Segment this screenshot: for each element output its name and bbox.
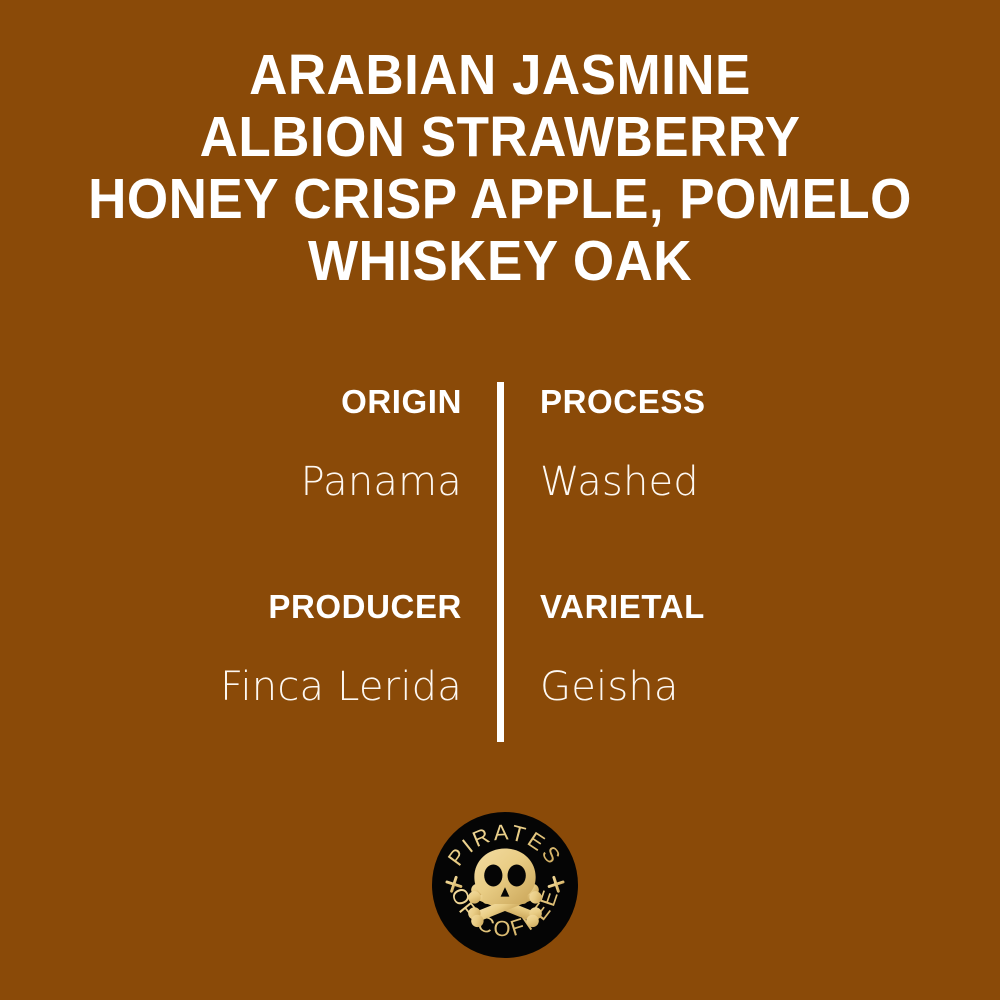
attribute-label: ORIGIN (0, 382, 462, 422)
attribute-label: PROCESS (540, 382, 1000, 422)
attribute-row: PRODUCER Finca Lerida VARIETAL Geisha (0, 587, 1000, 767)
tasting-note-line: WHISKEY OAK (35, 230, 965, 292)
attribute-value: Geisha (540, 665, 1000, 709)
attribute-producer: PRODUCER Finca Lerida (0, 587, 462, 709)
attribute-label: VARIETAL (540, 587, 1000, 627)
attribute-grid: ORIGIN Panama PROCESS Washed PRODUCER Fi… (0, 382, 1000, 742)
attribute-value: Panama (0, 460, 462, 504)
tasting-notes-headline: ARABIAN JASMINE ALBION STRAWBERRY HONEY … (0, 44, 1000, 292)
tasting-note-line: HONEY CRISP APPLE, POMELO (35, 168, 965, 230)
attribute-varietal: VARIETAL Geisha (540, 587, 1000, 709)
brand-logo: PIRATES OF COFFEE (432, 812, 578, 958)
attribute-process: PROCESS Washed (540, 382, 1000, 504)
coffee-label-card: ARABIAN JASMINE ALBION STRAWBERRY HONEY … (0, 0, 1000, 1000)
attribute-value: Washed (540, 460, 1000, 504)
attribute-value: Finca Lerida (0, 665, 462, 709)
attribute-origin: ORIGIN Panama (0, 382, 462, 504)
attribute-label: PRODUCER (0, 587, 462, 627)
tasting-note-line: ALBION STRAWBERRY (35, 106, 965, 168)
attribute-row: ORIGIN Panama PROCESS Washed (0, 382, 1000, 562)
tasting-note-line: ARABIAN JASMINE (35, 44, 965, 106)
